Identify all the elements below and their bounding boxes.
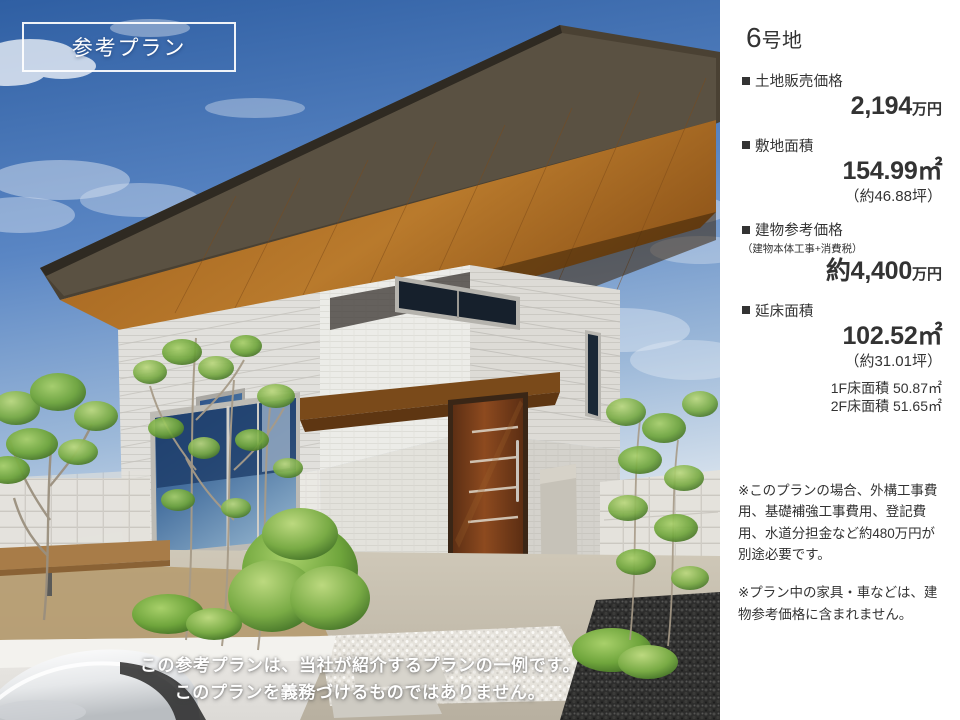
spec-building-price-head: 建物参考価格: [742, 219, 948, 240]
spec-site-area-number: 154.99: [843, 157, 918, 185]
spec-panel: 6号地 土地販売価格 2,194万円 敷地面積 154.99㎡ （約46.88坪…: [720, 0, 960, 720]
spec-land-price-label: 土地販売価格: [755, 70, 843, 91]
spec-total-floor-area-tsubo: （約31.01坪）: [738, 350, 948, 371]
spec-site-area: 敷地面積 154.99㎡ （約46.88坪）: [738, 135, 948, 207]
square-bullet-icon: [742, 141, 750, 149]
plot-number: 6: [746, 22, 762, 53]
caption-line-2: このプランを義務づけるものではありません。: [0, 680, 720, 706]
house-illustration: [0, 0, 720, 720]
spec-land-price: 土地販売価格 2,194万円: [738, 70, 948, 122]
spec-total-floor-area-unit: ㎡: [917, 322, 942, 350]
plan-sheet: 参考プラン この参考プランは、当社が紹介するプランの一例です。 このプランを義務…: [0, 0, 960, 720]
spec-building-price-sub: （建物本体工事+消費税）: [742, 241, 948, 256]
note-furniture-excluded: ※プラン中の家具・車などは、建物参考価格に含まれません。: [738, 582, 946, 625]
plot-suffix: 号地: [762, 30, 803, 52]
spec-total-floor-area-head: 延床面積: [742, 300, 948, 321]
spec-site-area-value: 154.99㎡: [738, 157, 948, 187]
spec-land-price-head: 土地販売価格: [742, 70, 948, 91]
house-exterior-photo: 参考プラン この参考プランは、当社が紹介するプランの一例です。 このプランを義務…: [0, 0, 720, 720]
spec-total-floor-area-label: 延床面積: [755, 300, 814, 321]
spec-floor-1f: 1F床面積 50.87㎡: [738, 379, 942, 397]
spec-total-floor-area-number: 102.52: [843, 322, 918, 350]
plan-badge-label: 参考プラン: [72, 32, 186, 62]
spec-building-price-label: 建物参考価格: [755, 219, 843, 240]
spec-floor-2f: 2F床面積 51.65㎡: [738, 397, 942, 415]
spec-site-area-unit: ㎡: [917, 157, 942, 185]
plot-title: 6号地: [746, 24, 948, 52]
spec-total-floor-area: 延床面積 102.52㎡ （約31.01坪） 1F床面積 50.87㎡ 2F床面…: [738, 300, 948, 416]
panel-notes: ※このプランの場合、外構工事費用、基礎補強工事費用、登記費用、水道分担金など約4…: [738, 480, 948, 625]
spec-building-price-value: 約4,400万円: [738, 257, 948, 287]
spec-site-area-head: 敷地面積: [742, 135, 948, 156]
caption-line-1: この参考プランは、当社が紹介するプランの一例です。: [0, 653, 720, 679]
square-bullet-icon: [742, 77, 750, 85]
spec-building-price-unit: 万円: [912, 266, 942, 283]
spec-land-price-number: 2,194: [851, 92, 912, 120]
spec-land-price-unit: 万円: [912, 101, 942, 118]
square-bullet-icon: [742, 306, 750, 314]
spec-building-price: 建物参考価格 （建物本体工事+消費税） 約4,400万円: [738, 219, 948, 287]
photo-disclaimer-caption: この参考プランは、当社が紹介するプランの一例です。 このプランを義務づけるもので…: [0, 653, 720, 706]
plan-badge: 参考プラン: [22, 22, 236, 72]
spec-land-price-value: 2,194万円: [738, 92, 948, 122]
spec-site-area-tsubo: （約46.88坪）: [738, 185, 948, 206]
spec-site-area-label: 敷地面積: [755, 135, 814, 156]
spec-total-floor-area-value: 102.52㎡: [738, 322, 948, 352]
spec-floor-breakdown: 1F床面積 50.87㎡ 2F床面積 51.65㎡: [738, 379, 948, 416]
square-bullet-icon: [742, 226, 750, 234]
note-extra-costs: ※このプランの場合、外構工事費用、基礎補強工事費用、登記費用、水道分担金など約4…: [738, 480, 946, 565]
spec-building-price-number: 約4,400: [826, 257, 912, 285]
